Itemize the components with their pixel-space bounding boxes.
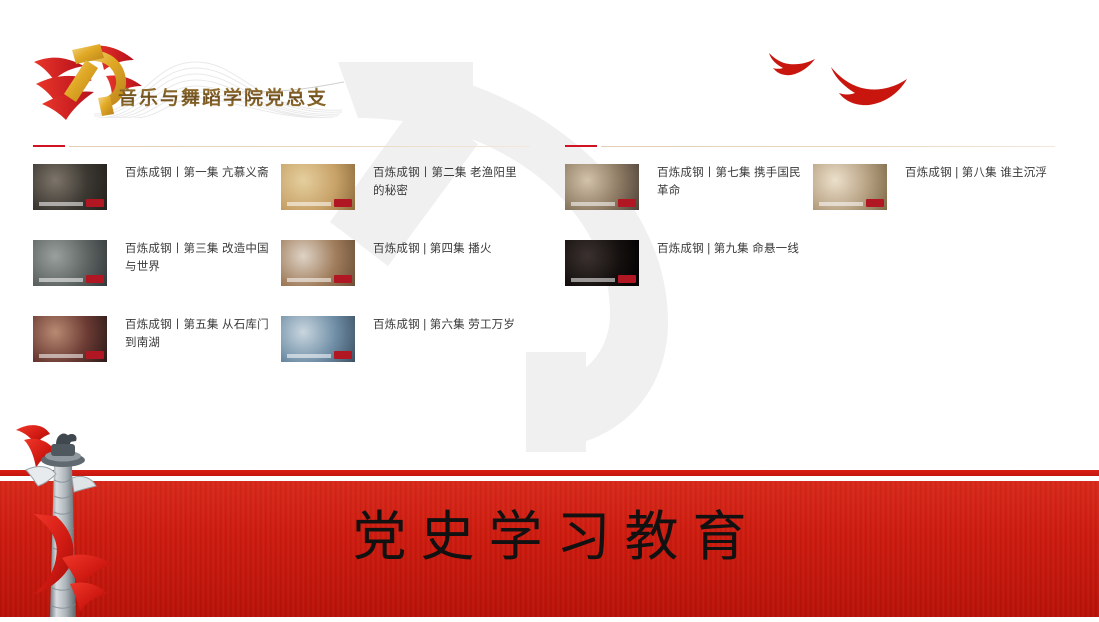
thumbnail-brand-tag (334, 275, 352, 283)
video-list-item[interactable]: 百炼成钢丨第七集 携手国民革命 (565, 164, 813, 210)
thumbnail-caption-bar (287, 278, 331, 282)
section-divider-left (33, 140, 530, 152)
video-list-item[interactable]: 百炼成钢 | 第四集 播火 (281, 240, 529, 286)
video-list-item[interactable]: 百炼成钢 | 第九集 命悬一线 (565, 240, 813, 286)
banner-title: 党史学习教育 (0, 505, 1099, 569)
video-column-left: 百炼成钢丨第一集 亢慕义斋百炼成钢丨第二集 老渔阳里的秘密百炼成钢丨第三集 改造… (33, 140, 530, 404)
thumbnail-brand-tag (86, 275, 104, 283)
thumbnail-caption-bar (571, 278, 615, 282)
page-header: 音乐与舞蹈学院党总支 (0, 0, 1099, 140)
episode-3-thumbnail[interactable] (33, 240, 107, 286)
divider-line (601, 146, 1055, 147)
divider-line (69, 146, 530, 147)
thumbnail-caption-bar (571, 202, 615, 206)
video-column-right: 百炼成钢丨第七集 携手国民革命百炼成钢 | 第八集 谁主沉浮百炼成钢 | 第九集… (565, 140, 1055, 404)
thumbnail-caption-bar (819, 202, 863, 206)
section-divider-right (565, 140, 1055, 152)
thumbnail-brand-tag (334, 351, 352, 359)
thumbnail-caption-bar (39, 278, 83, 282)
video-item-title: 百炼成钢丨第七集 携手国民革命 (657, 164, 807, 210)
video-item-title: 百炼成钢 | 第六集 劳工万岁 (373, 316, 523, 362)
video-list-region: 百炼成钢丨第一集 亢慕义斋百炼成钢丨第二集 老渔阳里的秘密百炼成钢丨第三集 改造… (0, 140, 1099, 420)
episode-7-thumbnail[interactable] (565, 164, 639, 210)
huabiao-column-with-red-ribbon (4, 418, 124, 617)
episode-5-thumbnail[interactable] (33, 316, 107, 362)
episode-6-thumbnail[interactable] (281, 316, 355, 362)
thumbnail-caption-bar (39, 202, 83, 206)
video-list-item[interactable]: 百炼成钢丨第二集 老渔阳里的秘密 (281, 164, 529, 210)
thumbnail-caption-bar (39, 354, 83, 358)
thumbnail-brand-tag (618, 199, 636, 207)
thumbnail-caption-bar (287, 354, 331, 358)
divider-red-accent (33, 145, 65, 147)
thumbnail-caption-bar (287, 202, 331, 206)
video-list-item[interactable]: 百炼成钢丨第五集 从石库门到南湖 (33, 316, 281, 362)
flying-doves-icon (755, 45, 920, 120)
episode-1-thumbnail[interactable] (33, 164, 107, 210)
video-item-title: 百炼成钢丨第五集 从石库门到南湖 (125, 316, 275, 362)
video-item-title: 百炼成钢丨第三集 改造中国与世界 (125, 240, 275, 286)
thumbnail-brand-tag (866, 199, 884, 207)
video-list-item[interactable]: 百炼成钢 | 第八集 谁主沉浮 (813, 164, 1061, 210)
video-item-title: 百炼成钢 | 第九集 命悬一线 (657, 240, 807, 286)
banner-top-stripe (0, 470, 1099, 476)
divider-red-accent (565, 145, 597, 147)
thumbnail-brand-tag (334, 199, 352, 207)
video-list-item[interactable]: 百炼成钢 | 第六集 劳工万岁 (281, 316, 529, 362)
video-list-item[interactable]: 百炼成钢丨第一集 亢慕义斋 (33, 164, 281, 210)
thumbnail-brand-tag (86, 351, 104, 359)
video-item-title: 百炼成钢 | 第八集 谁主沉浮 (905, 164, 1055, 210)
page-title: 音乐与舞蹈学院党总支 (118, 83, 328, 110)
episode-2-thumbnail[interactable] (281, 164, 355, 210)
episode-9-thumbnail[interactable] (565, 240, 639, 286)
episode-8-thumbnail[interactable] (813, 164, 887, 210)
video-list-item[interactable]: 百炼成钢丨第三集 改造中国与世界 (33, 240, 281, 286)
thumbnail-brand-tag (86, 199, 104, 207)
video-item-title: 百炼成钢 | 第四集 播火 (373, 240, 523, 286)
thumbnail-brand-tag (618, 275, 636, 283)
video-item-title: 百炼成钢丨第二集 老渔阳里的秘密 (373, 164, 523, 210)
episode-4-thumbnail[interactable] (281, 240, 355, 286)
video-item-title: 百炼成钢丨第一集 亢慕义斋 (125, 164, 275, 210)
